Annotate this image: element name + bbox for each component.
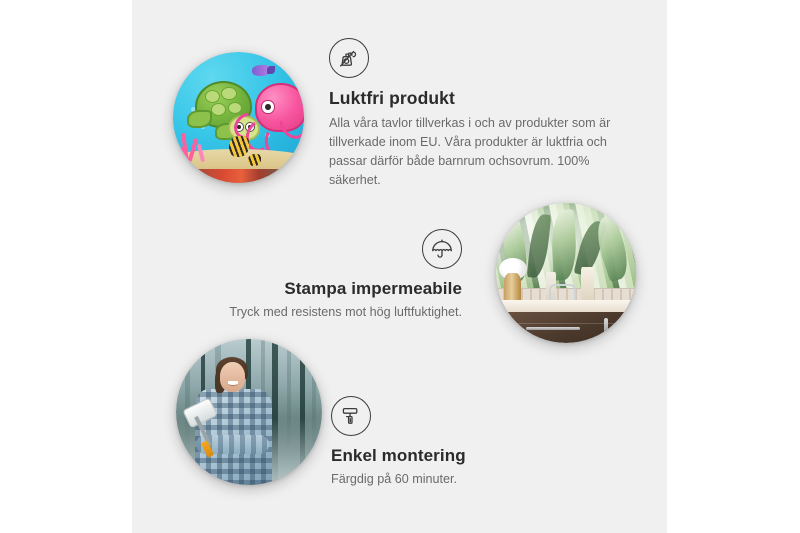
lotion-bottle — [581, 267, 594, 301]
shell-spot — [228, 102, 243, 114]
person-face — [220, 362, 245, 391]
seabed-strip — [173, 169, 304, 183]
feature-assembly: Enkel montering Färgdig på 60 minuter. — [331, 396, 591, 489]
shell-spot — [205, 90, 221, 103]
drawer-pull — [526, 327, 580, 330]
feature-body: Tryck med resistens mot hög luftfuktighe… — [200, 303, 462, 322]
photo-bathroom-interior[interactable] — [496, 203, 636, 343]
cabinet-seam — [507, 323, 636, 324]
octopus-eye — [261, 100, 274, 114]
product-feature-banner: Luktfri produkt Alla våra tavlor tillver… — [0, 0, 800, 533]
paint-roller-icon — [331, 396, 371, 436]
icon-wrap — [200, 229, 462, 269]
forest-photo — [176, 339, 322, 485]
fish-striped-small — [248, 154, 261, 166]
shell-spot — [221, 87, 237, 100]
icon-wrap — [329, 38, 634, 78]
umbrella-icon — [422, 229, 462, 269]
door-pull — [604, 318, 608, 334]
photo-underwater-scene[interactable] — [173, 52, 304, 183]
feature-body: Färgdig på 60 minuter. — [331, 470, 591, 489]
person-smile — [228, 381, 238, 386]
feature-odourless: Luktfri produkt Alla våra tavlor tillver… — [329, 38, 634, 190]
feature-waterproof: Stampa impermeabile Tryck med resistens … — [200, 229, 462, 322]
feature-title: Stampa impermeabile — [200, 278, 462, 299]
door-pull — [625, 318, 629, 334]
feature-title: Enkel montering — [331, 445, 591, 466]
underwater-illustration — [173, 52, 304, 183]
photo-woman-with-roller[interactable] — [176, 339, 322, 485]
shell-spot — [211, 103, 227, 116]
no-perfume-spray-icon — [329, 38, 369, 78]
feature-body: Alla våra tavlor tillverkas i och av pro… — [329, 114, 634, 191]
fish-striped — [229, 136, 249, 157]
icon-wrap — [331, 396, 591, 436]
feature-title: Luktfri produkt — [329, 88, 634, 110]
vanity-cabinet — [507, 312, 636, 343]
bathroom-photo — [496, 203, 636, 343]
countertop — [496, 300, 636, 314]
